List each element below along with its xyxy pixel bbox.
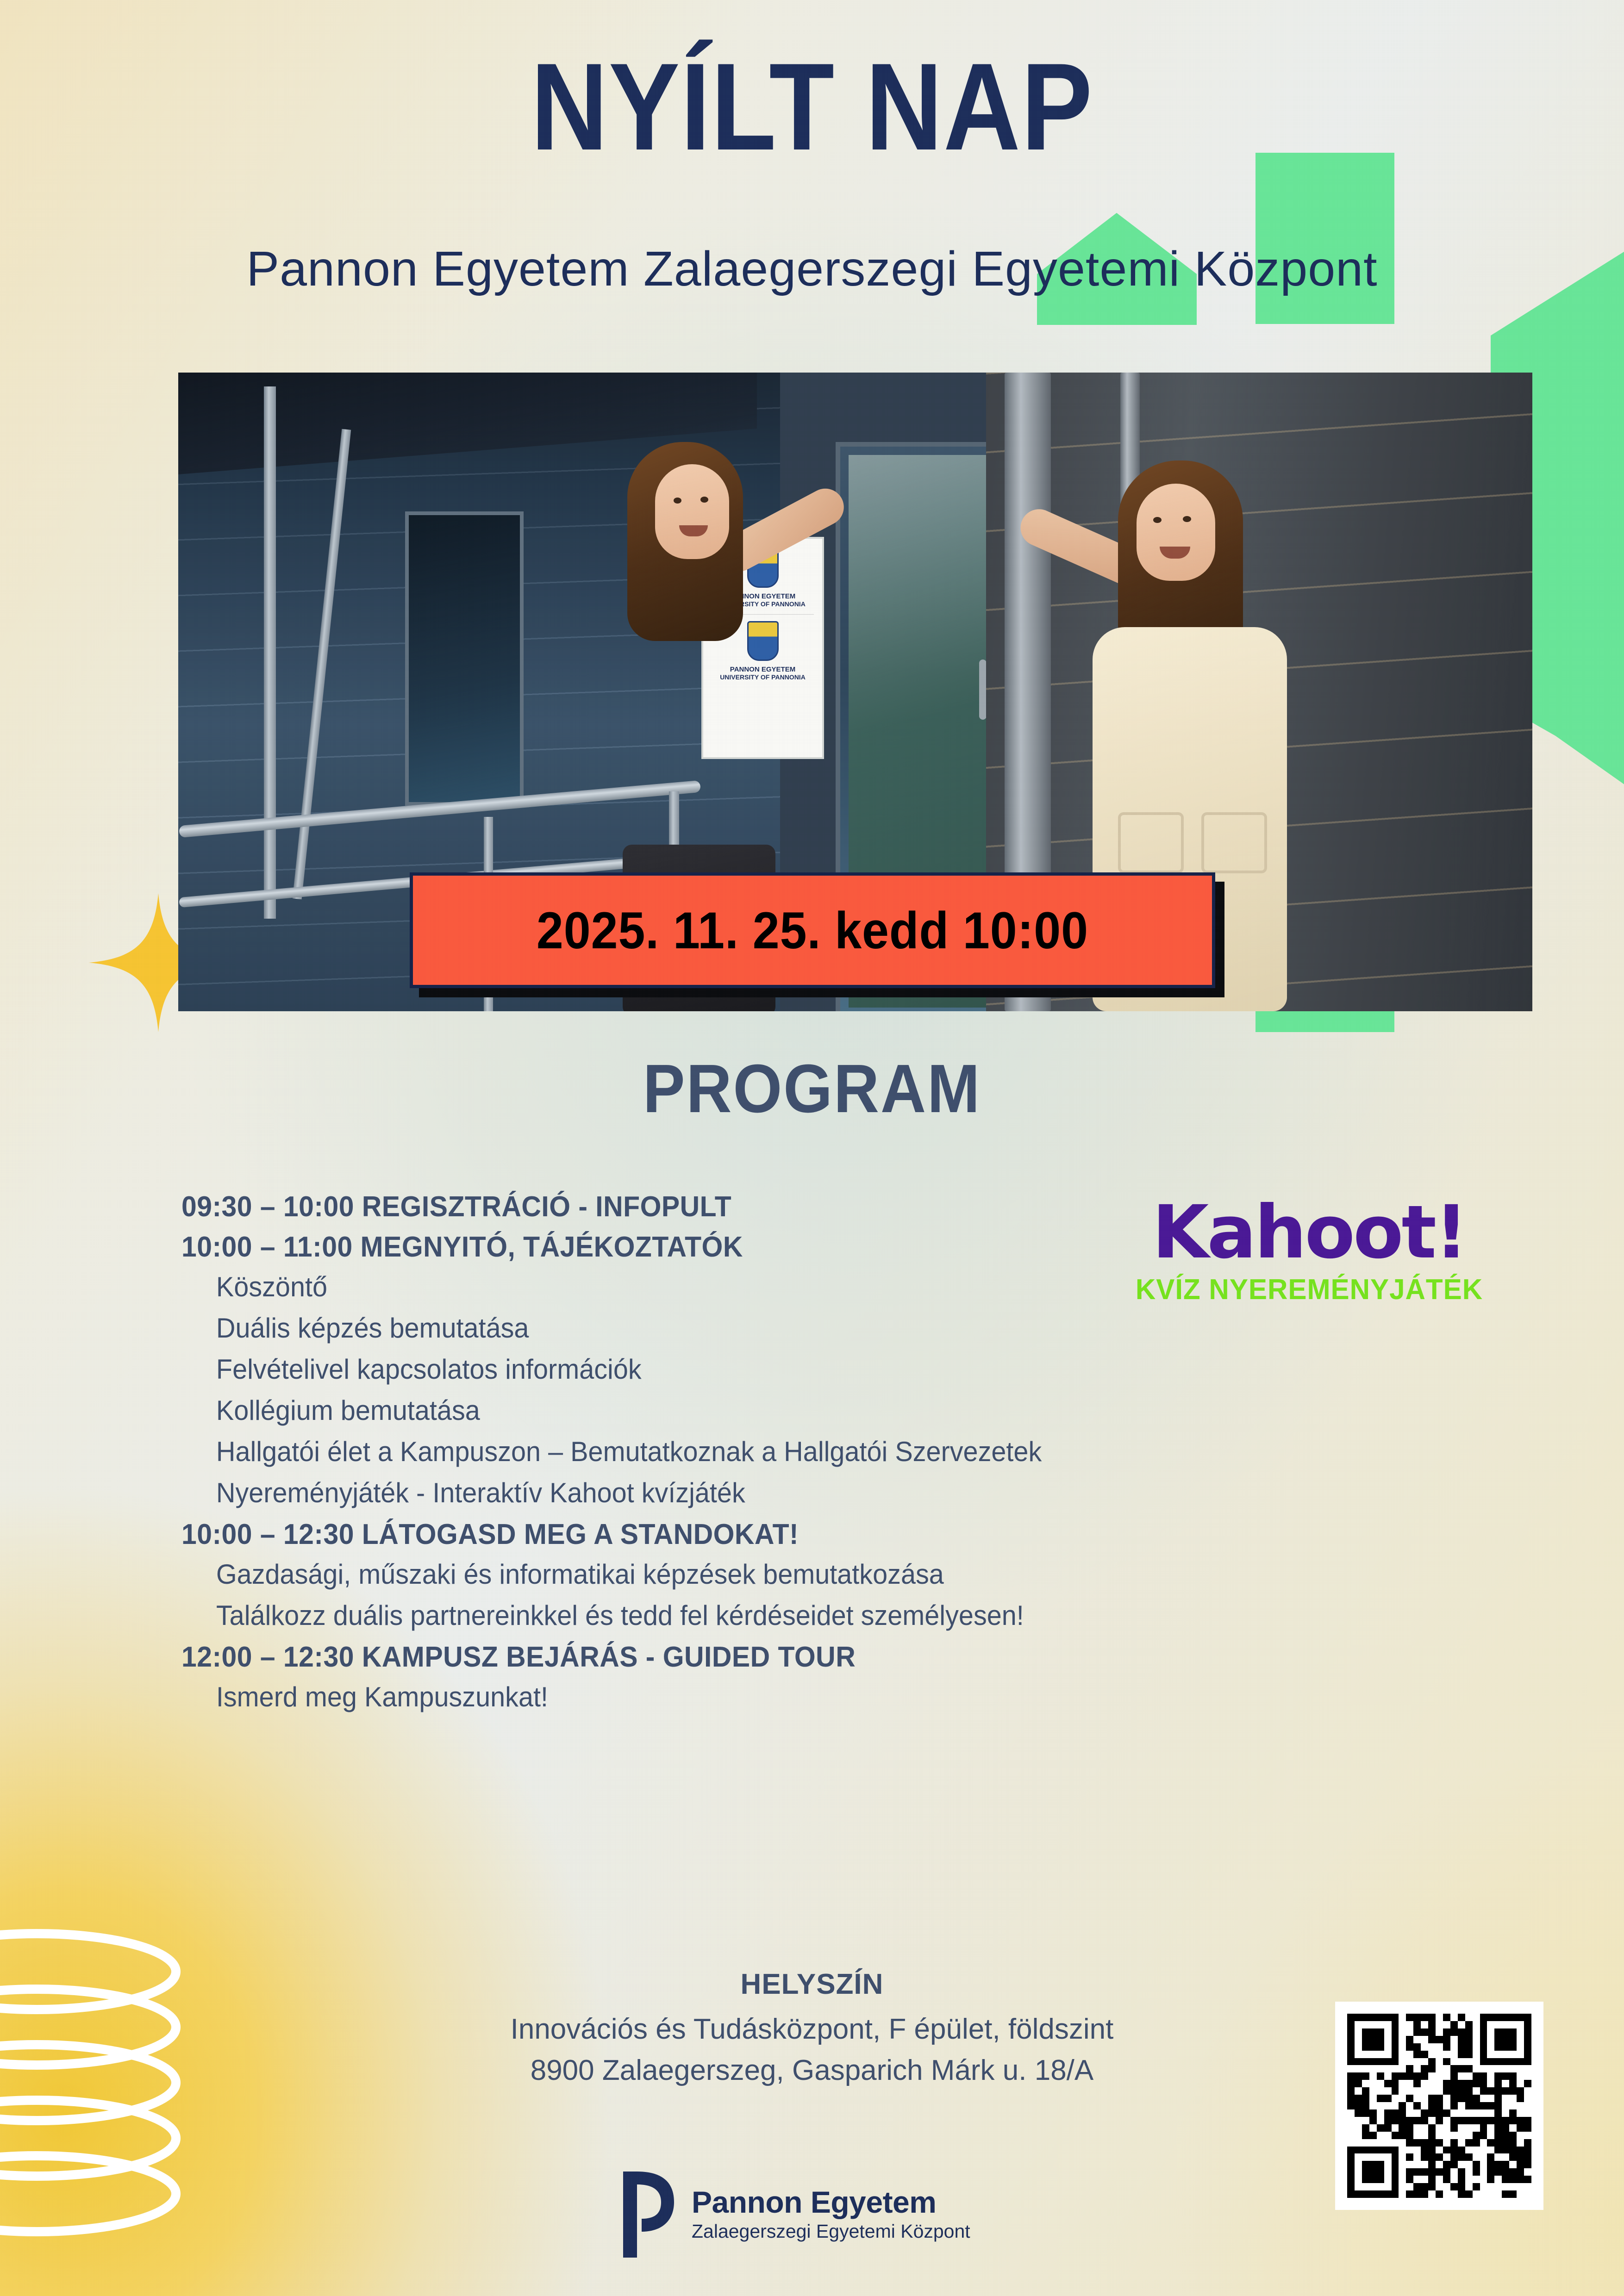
qr-module [1465, 2036, 1473, 2043]
qr-module [1399, 2080, 1406, 2087]
qr-module [1347, 2058, 1355, 2066]
qr-module [1421, 2028, 1428, 2036]
qr-module [1517, 2072, 1524, 2080]
qr-module [1502, 2080, 1509, 2087]
photo-person-left-eye-1 [674, 498, 681, 504]
qr-module [1399, 2124, 1406, 2132]
qr-module [1487, 2058, 1494, 2066]
qr-module [1369, 2095, 1377, 2102]
qr-module [1480, 2058, 1487, 2066]
qr-module [1509, 2183, 1517, 2190]
qr-module [1443, 2080, 1450, 2087]
qr-module [1509, 2190, 1517, 2198]
qr-module [1487, 2043, 1494, 2051]
qr-module [1377, 2058, 1384, 2066]
qr-module [1443, 2095, 1450, 2102]
qr-module [1406, 2036, 1413, 2043]
qr-module [1450, 2065, 1458, 2072]
qr-module [1406, 2168, 1413, 2176]
qr-module [1458, 2102, 1465, 2109]
qr-module [1509, 2028, 1517, 2036]
qr-module [1465, 2139, 1473, 2147]
qr-module [1421, 2058, 1428, 2066]
qr-module [1458, 2168, 1465, 2176]
qr-module [1458, 2117, 1465, 2124]
qr-module [1355, 2021, 1362, 2028]
schedule-item: Találkozz duális partnereinkkel és tedd … [181, 1599, 1159, 1631]
qr-module [1487, 2072, 1494, 2080]
pannon-p-mark-icon [620, 2171, 676, 2259]
qr-code-matrix [1347, 2014, 1531, 2198]
qr-module [1487, 2153, 1494, 2161]
qr-module [1436, 2080, 1443, 2087]
qr-module [1384, 2190, 1392, 2198]
qr-module [1443, 2014, 1450, 2021]
qr-module [1487, 2028, 1494, 2036]
qr-module [1480, 2021, 1487, 2028]
qr-module [1480, 2132, 1487, 2139]
qr-module [1399, 2102, 1406, 2109]
schedule-time-heading: 09:30 – 10:00 REGISZTRÁCIÓ - INFOPULT [181, 1190, 1149, 1223]
qr-module [1502, 2124, 1509, 2132]
qr-module [1413, 2161, 1421, 2168]
qr-module [1458, 2014, 1465, 2021]
qr-module [1369, 2109, 1377, 2117]
kahoot-promo-block: Kahoot! KVÍZ NYEREMÉNYJÁTÉK [1110, 1197, 1508, 1306]
qr-module [1413, 2014, 1421, 2021]
qr-module [1502, 2043, 1509, 2051]
qr-module [1362, 2117, 1369, 2124]
qr-module [1480, 2168, 1487, 2176]
qr-module [1362, 2168, 1369, 2176]
photo-person-right-eye-2 [1183, 516, 1191, 522]
qr-module [1377, 2147, 1384, 2154]
qr-module [1406, 2102, 1413, 2109]
qr-module [1473, 2117, 1480, 2124]
qr-module [1436, 2028, 1443, 2036]
qr-module [1413, 2028, 1421, 2036]
qr-module [1392, 2190, 1399, 2198]
qr-module [1465, 2183, 1473, 2190]
qr-module [1502, 2028, 1509, 2036]
qr-module [1384, 2021, 1392, 2028]
qr-module [1399, 2021, 1406, 2028]
qr-module [1509, 2080, 1517, 2087]
qr-module [1473, 2153, 1480, 2161]
qr-module [1421, 2153, 1428, 2161]
qr-module [1473, 2183, 1480, 2190]
qr-module [1355, 2051, 1362, 2058]
qr-module [1480, 2087, 1487, 2095]
qr-module [1494, 2117, 1502, 2124]
qr-module [1384, 2161, 1392, 2168]
qr-module [1384, 2183, 1392, 2190]
photo-person-right-coat-pocket-2 [1201, 812, 1267, 873]
qr-module [1473, 2124, 1480, 2132]
qr-module [1443, 2036, 1450, 2043]
qr-module [1480, 2051, 1487, 2058]
qr-module [1509, 2109, 1517, 2117]
qr-module [1347, 2043, 1355, 2051]
photo-railing-post-1 [264, 386, 276, 919]
qr-module [1428, 2161, 1436, 2168]
qr-module [1509, 2065, 1517, 2072]
qr-module [1480, 2095, 1487, 2102]
qr-module [1502, 2065, 1509, 2072]
qr-module [1494, 2080, 1502, 2087]
qr-module [1450, 2043, 1458, 2051]
qr-module [1392, 2014, 1399, 2021]
qr-module [1443, 2028, 1450, 2036]
qr-module [1413, 2102, 1421, 2109]
qr-module [1450, 2124, 1458, 2132]
qr-module [1465, 2109, 1473, 2117]
qr-module [1524, 2080, 1531, 2087]
qr-module [1406, 2147, 1413, 2154]
qr-module [1399, 2072, 1406, 2080]
qr-module [1443, 2065, 1450, 2072]
qr-module [1369, 2124, 1377, 2132]
qr-module [1399, 2051, 1406, 2058]
qr-module [1406, 2183, 1413, 2190]
qr-module [1443, 2147, 1450, 2154]
qr-module [1465, 2043, 1473, 2051]
qr-module [1517, 2161, 1524, 2168]
qr-module [1362, 2153, 1369, 2161]
qr-module [1524, 2139, 1531, 2147]
qr-module [1458, 2161, 1465, 2168]
qr-module [1450, 2095, 1458, 2102]
qr-module [1399, 2065, 1406, 2072]
qr-module [1494, 2051, 1502, 2058]
qr-module [1487, 2051, 1494, 2058]
qr-module [1384, 2102, 1392, 2109]
qr-module [1362, 2190, 1369, 2198]
schedule-item: Duális képzés bemutatása [181, 1312, 1159, 1344]
qr-module [1406, 2095, 1413, 2102]
qr-module [1517, 2087, 1524, 2095]
qr-module [1377, 2117, 1384, 2124]
qr-module [1436, 2153, 1443, 2161]
qr-module [1413, 2139, 1421, 2147]
photo-person-left-top [612, 599, 798, 859]
qr-module [1399, 2087, 1406, 2095]
qr-module [1428, 2176, 1436, 2183]
qr-module [1465, 2102, 1473, 2109]
qr-module [1436, 2065, 1443, 2072]
qr-module [1421, 2147, 1428, 2154]
qr-module [1362, 2065, 1369, 2072]
qr-module [1392, 2183, 1399, 2190]
qr-module [1509, 2095, 1517, 2102]
qr-module [1443, 2021, 1450, 2028]
qr-module [1524, 2072, 1531, 2080]
qr-module [1509, 2072, 1517, 2080]
qr-module [1369, 2102, 1377, 2109]
qr-module [1384, 2095, 1392, 2102]
photo-person-right-eye-1 [1153, 517, 1162, 523]
qr-module [1450, 2132, 1458, 2139]
qr-module [1524, 2161, 1531, 2168]
photo-person-left-eye-2 [700, 497, 708, 503]
qr-module [1399, 2028, 1406, 2036]
qr-module [1494, 2190, 1502, 2198]
qr-module [1473, 2065, 1480, 2072]
qr-module [1517, 2095, 1524, 2102]
qr-module [1384, 2153, 1392, 2161]
qr-module [1355, 2183, 1362, 2190]
qr-module [1465, 2021, 1473, 2028]
qr-module [1399, 2043, 1406, 2051]
qr-module [1406, 2153, 1413, 2161]
qr-module [1465, 2117, 1473, 2124]
program-schedule-list: 09:30 – 10:00 REGISZTRÁCIÓ - INFOPULT10:… [181, 1190, 1200, 1722]
qr-module [1362, 2161, 1369, 2168]
qr-module [1384, 2051, 1392, 2058]
qr-module [1480, 2153, 1487, 2161]
qr-module [1436, 2051, 1443, 2058]
qr-module [1517, 2168, 1524, 2176]
qr-module [1369, 2176, 1377, 2183]
qr-module [1369, 2132, 1377, 2139]
qr-module [1377, 2190, 1384, 2198]
qr-module [1436, 2043, 1443, 2051]
qr-code[interactable] [1335, 2002, 1543, 2210]
qr-module [1347, 2065, 1355, 2072]
qr-module [1450, 2183, 1458, 2190]
qr-module [1443, 2072, 1450, 2080]
qr-module [1465, 2132, 1473, 2139]
qr-module [1517, 2117, 1524, 2124]
qr-module [1413, 2087, 1421, 2095]
qr-module [1421, 2065, 1428, 2072]
qr-module [1369, 2147, 1377, 2154]
qr-module [1421, 2036, 1428, 2043]
qr-module [1384, 2109, 1392, 2117]
qr-module [1384, 2043, 1392, 2051]
qr-module [1502, 2087, 1509, 2095]
qr-module [1347, 2051, 1355, 2058]
qr-module [1355, 2058, 1362, 2066]
qr-module [1480, 2147, 1487, 2154]
qr-module [1413, 2095, 1421, 2102]
qr-module [1465, 2087, 1473, 2095]
qr-module [1458, 2028, 1465, 2036]
qr-module [1421, 2080, 1428, 2087]
qr-module [1347, 2095, 1355, 2102]
qr-module [1509, 2036, 1517, 2043]
qr-module [1428, 2087, 1436, 2095]
qr-module [1428, 2028, 1436, 2036]
qr-module [1524, 2043, 1531, 2051]
qr-module [1377, 2051, 1384, 2058]
qr-module [1347, 2139, 1355, 2147]
qr-module [1502, 2036, 1509, 2043]
qr-module [1347, 2087, 1355, 2095]
qr-module [1421, 2102, 1428, 2109]
qr-module [1509, 2168, 1517, 2176]
qr-module [1524, 2021, 1531, 2028]
qr-module [1524, 2087, 1531, 2095]
qr-module [1399, 2168, 1406, 2176]
qr-module [1399, 2183, 1406, 2190]
qr-module [1347, 2072, 1355, 2080]
qr-module [1436, 2102, 1443, 2109]
qr-module [1517, 2109, 1524, 2117]
qr-module [1517, 2153, 1524, 2161]
qr-module [1369, 2028, 1377, 2036]
qr-module [1487, 2036, 1494, 2043]
qr-module [1487, 2065, 1494, 2072]
qr-module [1473, 2176, 1480, 2183]
qr-module [1362, 2147, 1369, 2154]
qr-module [1392, 2036, 1399, 2043]
qr-module [1413, 2109, 1421, 2117]
qr-module [1406, 2072, 1413, 2080]
qr-module [1436, 2095, 1443, 2102]
qr-module [1473, 2058, 1480, 2066]
qr-module [1392, 2021, 1399, 2028]
qr-module [1399, 2095, 1406, 2102]
qr-module [1406, 2176, 1413, 2183]
qr-module [1517, 2065, 1524, 2072]
qr-module [1517, 2176, 1524, 2183]
qr-module [1347, 2124, 1355, 2132]
qr-module [1465, 2014, 1473, 2021]
qr-module [1392, 2043, 1399, 2051]
qr-module [1428, 2065, 1436, 2072]
qr-module [1465, 2028, 1473, 2036]
qr-module [1450, 2190, 1458, 2198]
qr-module [1443, 2132, 1450, 2139]
qr-module [1494, 2065, 1502, 2072]
qr-module [1436, 2190, 1443, 2198]
schedule-item: Felvételivel kapcsolatos információk [181, 1353, 1159, 1385]
qr-module [1487, 2183, 1494, 2190]
qr-module [1406, 2124, 1413, 2132]
qr-module [1384, 2132, 1392, 2139]
qr-module [1436, 2147, 1443, 2154]
qr-module [1399, 2190, 1406, 2198]
qr-module [1347, 2102, 1355, 2109]
qr-module [1458, 2147, 1465, 2154]
qr-module [1465, 2161, 1473, 2168]
qr-module [1362, 2036, 1369, 2043]
qr-module [1458, 2043, 1465, 2051]
qr-module [1392, 2176, 1399, 2183]
qr-module [1502, 2176, 1509, 2183]
qr-module [1480, 2102, 1487, 2109]
qr-module [1377, 2176, 1384, 2183]
qr-module [1473, 2072, 1480, 2080]
qr-module [1524, 2058, 1531, 2066]
qr-module [1347, 2176, 1355, 2183]
qr-module [1502, 2102, 1509, 2109]
qr-module [1494, 2153, 1502, 2161]
qr-module [1458, 2065, 1465, 2072]
qr-module [1369, 2058, 1377, 2066]
qr-module [1362, 2102, 1369, 2109]
qr-module [1347, 2036, 1355, 2043]
qr-module [1458, 2176, 1465, 2183]
qr-module [1524, 2014, 1531, 2021]
qr-module [1524, 2132, 1531, 2139]
qr-module [1487, 2080, 1494, 2087]
qr-module [1406, 2080, 1413, 2087]
qr-module [1369, 2161, 1377, 2168]
qr-module [1399, 2132, 1406, 2139]
qr-module [1377, 2139, 1384, 2147]
qr-module [1384, 2080, 1392, 2087]
qr-module [1509, 2043, 1517, 2051]
qr-module [1465, 2095, 1473, 2102]
qr-module [1428, 2058, 1436, 2066]
qr-module [1443, 2051, 1450, 2058]
qr-module [1377, 2095, 1384, 2102]
qr-module [1428, 2051, 1436, 2058]
qr-module [1347, 2080, 1355, 2087]
qr-module [1413, 2036, 1421, 2043]
qr-module [1517, 2190, 1524, 2198]
qr-module [1509, 2124, 1517, 2132]
qr-module [1494, 2124, 1502, 2132]
qr-module [1487, 2014, 1494, 2021]
qr-module [1480, 2014, 1487, 2021]
qr-module [1355, 2139, 1362, 2147]
qr-module [1480, 2043, 1487, 2051]
qr-module [1362, 2080, 1369, 2087]
qr-module [1436, 2014, 1443, 2021]
qr-module [1517, 2028, 1524, 2036]
qr-module [1436, 2132, 1443, 2139]
qr-module [1377, 2153, 1384, 2161]
qr-module [1406, 2065, 1413, 2072]
qr-module [1355, 2065, 1362, 2072]
qr-module [1502, 2147, 1509, 2154]
qr-module [1436, 2168, 1443, 2176]
qr-module [1487, 2109, 1494, 2117]
qr-module [1392, 2153, 1399, 2161]
qr-module [1406, 2132, 1413, 2139]
qr-module [1487, 2161, 1494, 2168]
qr-module [1458, 2190, 1465, 2198]
qr-module [1524, 2117, 1531, 2124]
qr-module [1399, 2036, 1406, 2043]
qr-module [1480, 2065, 1487, 2072]
qr-module [1458, 2021, 1465, 2028]
qr-module [1406, 2161, 1413, 2168]
qr-module [1392, 2028, 1399, 2036]
qr-module [1413, 2132, 1421, 2139]
qr-module [1369, 2190, 1377, 2198]
qr-module [1487, 2132, 1494, 2139]
kahoot-subtitle: KVÍZ NYEREMÉNYJÁTÉK [1116, 1273, 1502, 1306]
qr-module [1517, 2102, 1524, 2109]
qr-module [1347, 2021, 1355, 2028]
qr-module [1473, 2036, 1480, 2043]
qr-module [1473, 2021, 1480, 2028]
qr-module [1399, 2161, 1406, 2168]
qr-module [1392, 2080, 1399, 2087]
qr-module [1421, 2072, 1428, 2080]
qr-module [1450, 2109, 1458, 2117]
qr-module [1406, 2190, 1413, 2198]
qr-module [1494, 2028, 1502, 2036]
qr-module [1487, 2102, 1494, 2109]
qr-module [1428, 2095, 1436, 2102]
qr-module [1428, 2147, 1436, 2154]
photo-window [405, 511, 524, 806]
